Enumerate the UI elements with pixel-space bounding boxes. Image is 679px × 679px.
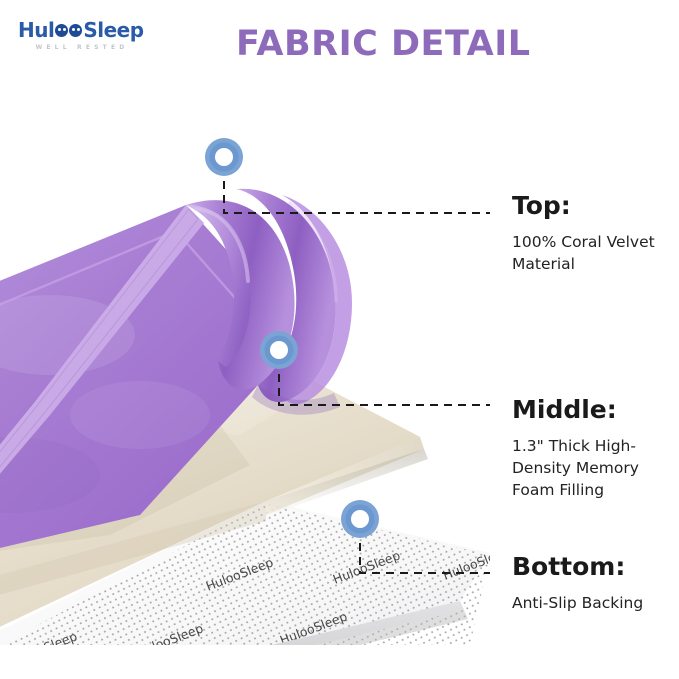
brand-name-part2: Sleep — [83, 20, 143, 40]
callout-top-body: 100% Coral Velvet Material — [512, 231, 677, 275]
middle-marker — [260, 331, 298, 369]
sleepy-eyes-icon — [55, 24, 82, 37]
product-illustration: HulooSleep HulooSleep HulooSleep HulooSl… — [0, 85, 490, 645]
callout-top-title: Top: — [512, 192, 677, 220]
callout-middle: Middle: 1.3" Thick High-Density Memory F… — [512, 396, 677, 501]
top-marker — [205, 138, 243, 176]
callout-top: Top: 100% Coral Velvet Material — [512, 192, 677, 275]
leader-line-top — [224, 167, 490, 213]
callout-middle-body: 1.3" Thick High-Density Memory Foam Fill… — [512, 435, 677, 501]
page-title: FABRIC DETAIL — [236, 24, 531, 64]
brand-name-part1: Hul — [18, 20, 54, 40]
brand-tagline: WELL RESTED — [18, 44, 146, 51]
callout-bottom-body: Anti-Slip Backing — [512, 592, 677, 614]
brand-logo: Hul Sleep WELL RESTED — [18, 20, 168, 62]
brand-wordmark: Hul Sleep — [18, 20, 168, 40]
fabric-detail-infographic: Hul Sleep WELL RESTED FABRIC DETAIL — [0, 0, 679, 679]
callout-bottom: Bottom: Anti-Slip Backing — [512, 553, 677, 614]
callout-bottom-title: Bottom: — [512, 553, 677, 581]
callout-middle-title: Middle: — [512, 396, 677, 424]
bottom-marker — [341, 500, 379, 538]
